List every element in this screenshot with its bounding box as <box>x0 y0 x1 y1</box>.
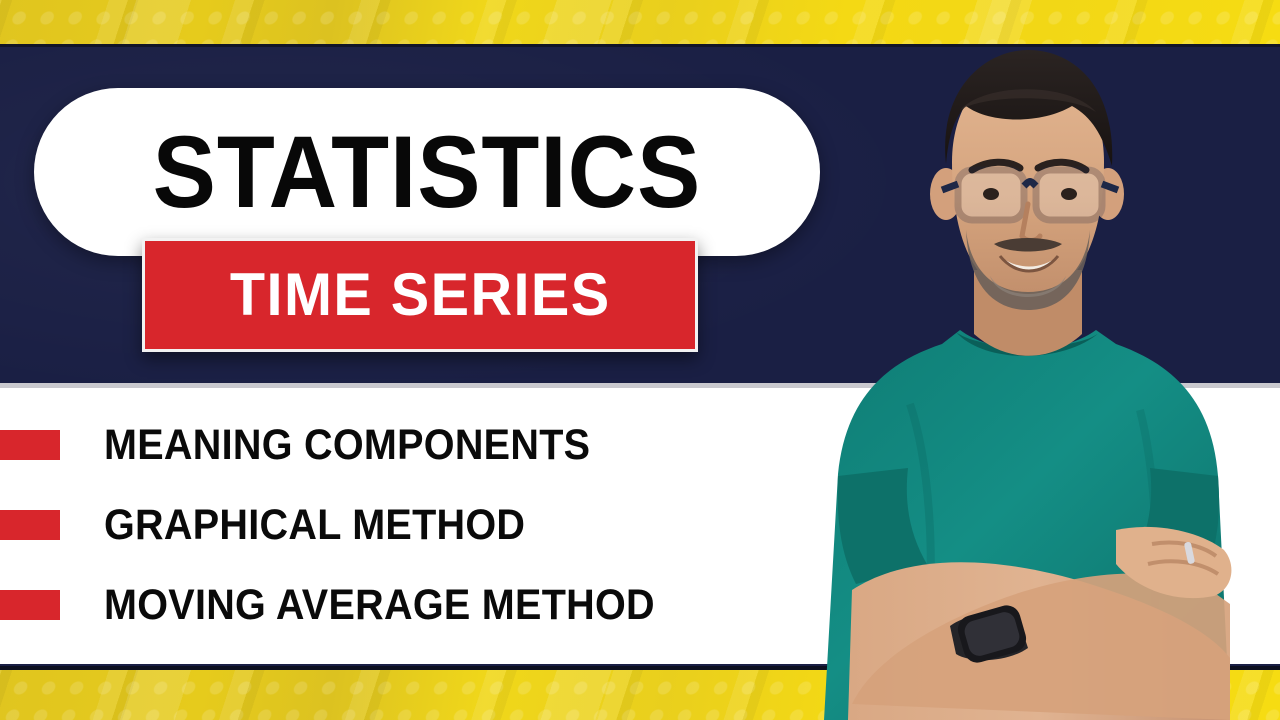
list-item: MOVING AVERAGE METHOD <box>0 569 810 641</box>
topic-label: MEANING COMPONENTS <box>104 424 590 467</box>
topic-list: MEANING COMPONENTS GRAPHICAL METHOD MOVI… <box>0 387 810 664</box>
thumbnail-canvas: STATISTICS TIME SERIES MEANING COMPONENT… <box>0 0 1280 720</box>
eye <box>983 188 999 200</box>
subtitle-badge: TIME SERIES <box>142 238 698 352</box>
list-item: GRAPHICAL METHOD <box>0 489 810 561</box>
red-bullet-icon <box>0 590 60 620</box>
title-pill: STATISTICS <box>34 88 820 256</box>
page-title: STATISTICS <box>153 121 702 223</box>
top-band-wide-stripes <box>0 0 1280 47</box>
eye <box>1061 188 1077 200</box>
red-bullet-icon <box>0 430 60 460</box>
presenter-photo <box>760 44 1280 720</box>
presenter-illustration <box>760 44 1280 720</box>
topic-label: GRAPHICAL METHOD <box>104 504 525 547</box>
top-yellow-band <box>0 0 1280 47</box>
topic-label: MOVING AVERAGE METHOD <box>104 584 655 627</box>
subtitle-label: TIME SERIES <box>230 265 611 325</box>
red-bullet-icon <box>0 510 60 540</box>
list-item: MEANING COMPONENTS <box>0 409 810 481</box>
